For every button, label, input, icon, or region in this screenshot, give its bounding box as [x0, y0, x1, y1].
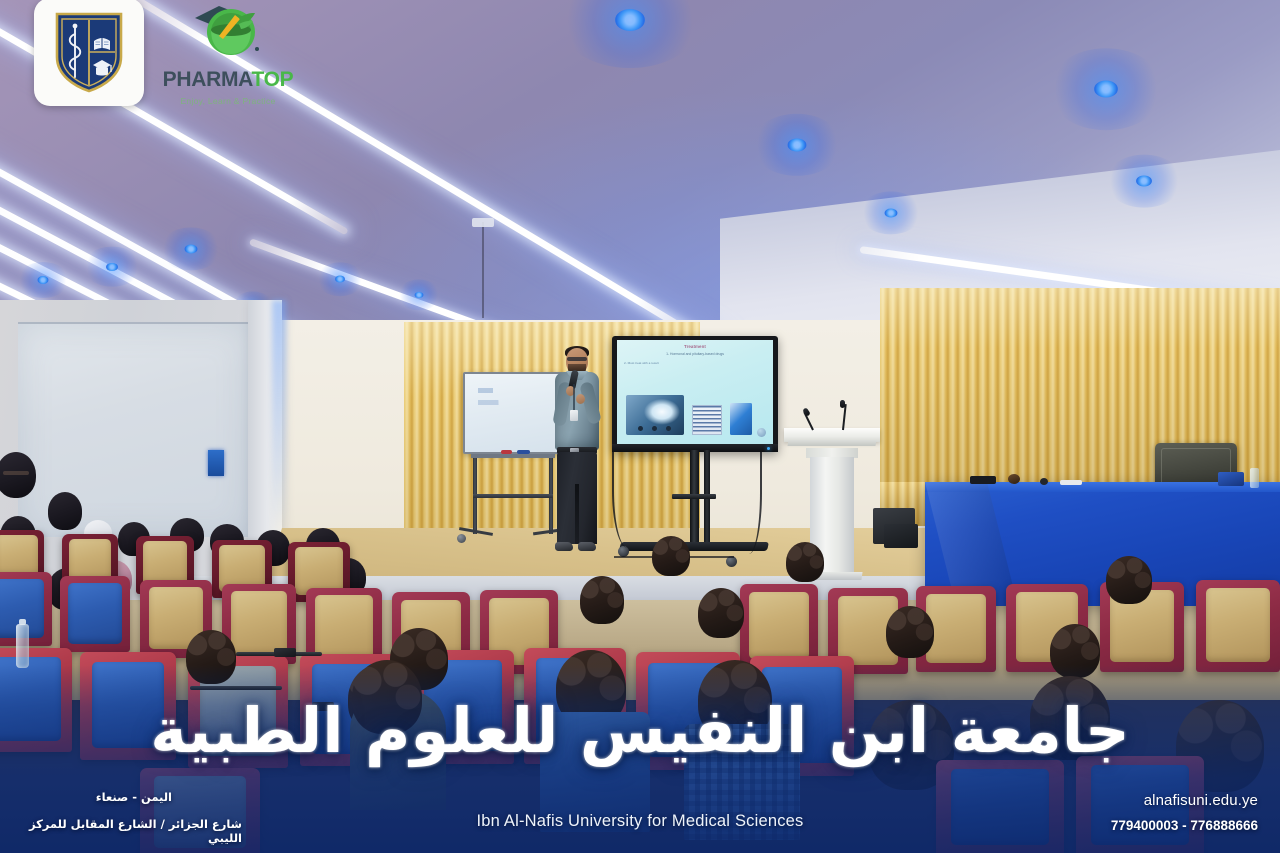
slide-bar-chart: [692, 405, 722, 435]
audience-member: [786, 542, 824, 582]
university-shield-icon: [52, 9, 126, 95]
presenter-shoe-left: [555, 542, 573, 551]
ceiling-spotlight: [600, 0, 660, 40]
slide-watermark-logo: [757, 428, 766, 437]
ceiling-spotlight: [1128, 170, 1160, 192]
seat-cushion: [68, 583, 121, 644]
seat[interactable]: [1196, 580, 1280, 672]
table-item-cup[interactable]: [1008, 474, 1020, 484]
presenter-glasses: [567, 357, 587, 361]
slide-bullet: 2- Must treat with a result: [624, 361, 773, 365]
presenter-hand-right: [576, 394, 585, 404]
ceiling-spotlight: [32, 272, 54, 287]
address-block: اليمن - صنعاء شارع الجزائر / الشارع المق…: [0, 790, 250, 845]
podium-microphone-head-right: [840, 400, 845, 408]
seat[interactable]: [936, 760, 1064, 853]
audience-member: [886, 606, 934, 658]
ceiling-cable-mount: [472, 218, 494, 227]
seat-cushion: [231, 591, 287, 655]
display-stand-shelf: [672, 494, 716, 499]
open-book-icon: [94, 38, 110, 50]
ceiling-spotlight: [1082, 72, 1130, 106]
presenter-shoe-right: [578, 542, 596, 551]
ceiling-spotlight: [178, 240, 204, 258]
seat[interactable]: [60, 576, 130, 652]
table-item-mic[interactable]: [1040, 478, 1048, 485]
phone-numbers[interactable]: 779400003 - 776888666: [1111, 818, 1258, 833]
table-item-box[interactable]: [1218, 472, 1244, 486]
pharmatop-logo: PHARMATOP Enjoy, Learn & Practice: [158, 2, 298, 112]
brand-name-arabic: جامعة ابن النفيس للعلوم الطبية: [0, 700, 1280, 762]
slide-device-image: [730, 403, 752, 435]
audience-member: [0, 452, 36, 498]
floor-equipment-box: [884, 524, 918, 548]
whiteboard-crossbar: [473, 494, 553, 498]
whiteboard-marker-red[interactable]: [501, 450, 512, 454]
slide-subtitle: 1- Hormonal and pituitary-based drugs: [617, 352, 773, 356]
table-item-bottle[interactable]: [1250, 468, 1259, 488]
wall-sign-icon: [208, 450, 224, 476]
contact-block: alnafisuni.edu.ye 779400003 - 776888666: [1111, 792, 1258, 833]
presenter: [546, 348, 604, 560]
pharmatop-word-1: PHARMA: [163, 68, 252, 91]
slide-clinical-photo: [626, 395, 684, 435]
seat-cushion: [951, 769, 1048, 846]
ceiling-spotlight: [878, 204, 904, 222]
audience-member: [1050, 624, 1100, 678]
audience-member: [580, 576, 624, 624]
seat-cushion: [926, 594, 987, 663]
slide-figure-group: [626, 391, 764, 435]
audience-member: [652, 536, 690, 576]
whiteboard-wheel-left: [457, 534, 466, 543]
ceiling-spotlight: [330, 272, 350, 286]
website-url[interactable]: alnafisuni.edu.ye: [1111, 792, 1258, 809]
blue-wall-glow: [272, 300, 286, 530]
seat-cushion: [749, 592, 808, 659]
table-item-papers[interactable]: [1060, 480, 1082, 485]
audience-member: [48, 492, 82, 530]
seat-writing-tablet[interactable]: [190, 686, 282, 690]
mobile-phone[interactable]: [274, 648, 296, 657]
presenter-lanyard: [573, 384, 575, 411]
presentation-display[interactable]: Treatment 1- Hormonal and pituitary-base…: [612, 336, 778, 452]
audience-member: [186, 630, 236, 684]
photograph-canvas: Treatment 1- Hormonal and pituitary-base…: [0, 0, 1280, 853]
pharmatop-mark-icon: [189, 0, 267, 66]
display-bezel: Treatment 1- Hormonal and pituitary-base…: [612, 336, 778, 452]
pharmatop-wordmark: PHARMATOP: [158, 68, 298, 92]
seat-cushion: [1206, 588, 1270, 662]
ceiling-spotlight: [100, 258, 124, 275]
presenter-name-badge: [570, 410, 578, 421]
audience-member: [698, 588, 744, 638]
presentation-slide: Treatment 1- Hormonal and pituitary-base…: [617, 340, 773, 444]
university-logo: [34, 0, 144, 106]
display-stand-pole: [690, 450, 699, 548]
water-bottle[interactable]: [16, 624, 29, 668]
address-line-2: شارع الجزائر / الشارع المقابل للمركز الل…: [0, 817, 250, 845]
presenter-trousers: [557, 452, 597, 544]
whiteboard-marker-blue[interactable]: [517, 450, 530, 454]
ceiling-spotlight: [778, 132, 816, 158]
table-item-dark[interactable]: [970, 476, 996, 484]
display-power-led-icon: [767, 447, 770, 450]
pharmatop-tagline: Enjoy, Learn & Practice: [158, 96, 298, 106]
audience-member: [1106, 556, 1152, 604]
seat-cushion: [315, 595, 373, 661]
podium-top: [784, 428, 880, 442]
whiteboard-marker-tray: [471, 454, 555, 458]
address-line-1: اليمن - صنعاء: [0, 790, 250, 804]
pharmatop-word-2: TOP: [251, 68, 293, 91]
slide-title: Treatment: [617, 344, 773, 349]
